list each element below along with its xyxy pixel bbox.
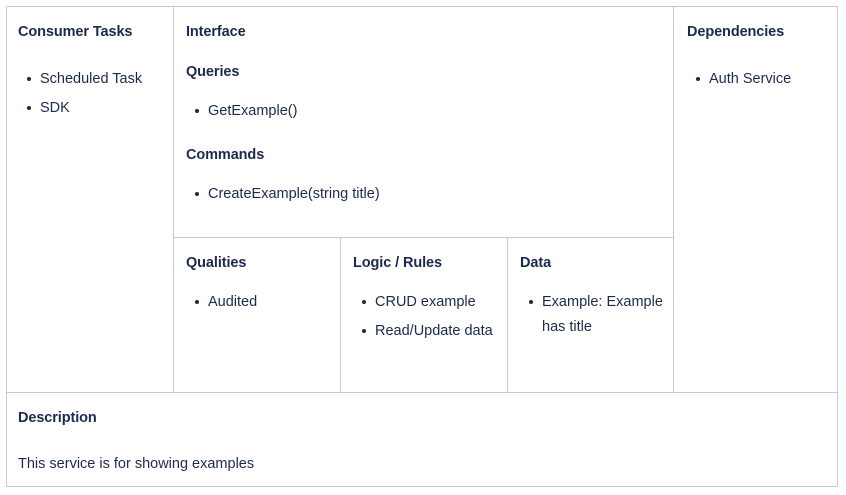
data-list: Example: Example has title xyxy=(520,290,663,340)
spacer xyxy=(18,41,161,67)
list-item: Read/Update data xyxy=(375,319,497,344)
list-item: Scheduled Task xyxy=(40,67,161,92)
section-qualities: Qualities Audited xyxy=(174,238,341,392)
list-item-label: Example: Example has title xyxy=(542,294,663,335)
dependencies-heading: Dependencies xyxy=(687,23,825,41)
list-item-label: SDK xyxy=(40,100,70,116)
section-interface: Interface Queries GetExample() Commands xyxy=(174,7,674,392)
spacer xyxy=(186,272,330,290)
dependencies-list: Auth Service xyxy=(687,67,825,92)
service-summary-card: Consumer Tasks Scheduled Task SDK Interf… xyxy=(6,6,838,487)
logic-rules-heading: Logic / Rules xyxy=(353,254,497,272)
list-item: Auth Service xyxy=(709,67,825,92)
card-upper-region: Consumer Tasks Scheduled Task SDK Interf… xyxy=(7,7,837,392)
list-item-label: CRUD example xyxy=(375,294,476,310)
qualities-heading: Qualities xyxy=(186,254,330,272)
list-item: GetExample() xyxy=(208,99,661,124)
list-item-label: GetExample() xyxy=(208,103,297,119)
logic-rules-list: CRUD example Read/Update data xyxy=(353,290,497,344)
page-canvas: Consumer Tasks Scheduled Task SDK Interf… xyxy=(0,0,846,495)
spacer xyxy=(186,41,661,63)
section-logic-rules: Logic / Rules CRUD example Read/Update d… xyxy=(341,238,508,392)
consumer-tasks-list: Scheduled Task SDK xyxy=(18,67,161,121)
queries-list: GetExample() xyxy=(186,99,661,124)
interface-bottom-region: Qualities Audited Logic / Rules xyxy=(174,238,673,392)
spacer xyxy=(186,124,661,146)
list-item-label: Scheduled Task xyxy=(40,71,142,87)
list-item: CreateExample(string title) xyxy=(208,182,661,207)
consumer-tasks-heading: Consumer Tasks xyxy=(18,23,161,41)
data-heading: Data xyxy=(520,254,663,272)
list-item-label: CreateExample(string title) xyxy=(208,186,380,202)
spacer xyxy=(687,41,825,67)
spacer xyxy=(186,81,661,99)
section-consumer-tasks: Consumer Tasks Scheduled Task SDK xyxy=(7,7,174,392)
commands-list: CreateExample(string title) xyxy=(186,182,661,207)
commands-heading: Commands xyxy=(186,146,661,164)
list-item: CRUD example xyxy=(375,290,497,315)
description-heading: Description xyxy=(18,409,825,427)
spacer xyxy=(186,164,661,182)
spacer xyxy=(18,427,825,453)
list-item-label: Read/Update data xyxy=(375,323,493,339)
list-item-label: Audited xyxy=(208,294,257,310)
list-item-label: Auth Service xyxy=(709,71,791,87)
list-item: SDK xyxy=(40,96,161,121)
queries-heading: Queries xyxy=(186,63,661,81)
spacer xyxy=(353,272,497,290)
section-data: Data Example: Example has title xyxy=(508,238,673,392)
interface-top-region: Interface Queries GetExample() Commands xyxy=(174,7,673,238)
section-description: Description This service is for showing … xyxy=(7,392,837,486)
interface-heading: Interface xyxy=(186,23,661,41)
description-text: This service is for showing examples xyxy=(18,453,825,476)
list-item: Audited xyxy=(208,290,330,315)
spacer xyxy=(520,272,663,290)
qualities-list: Audited xyxy=(186,290,330,315)
section-dependencies: Dependencies Auth Service xyxy=(674,7,837,392)
list-item: Example: Example has title xyxy=(542,290,663,340)
